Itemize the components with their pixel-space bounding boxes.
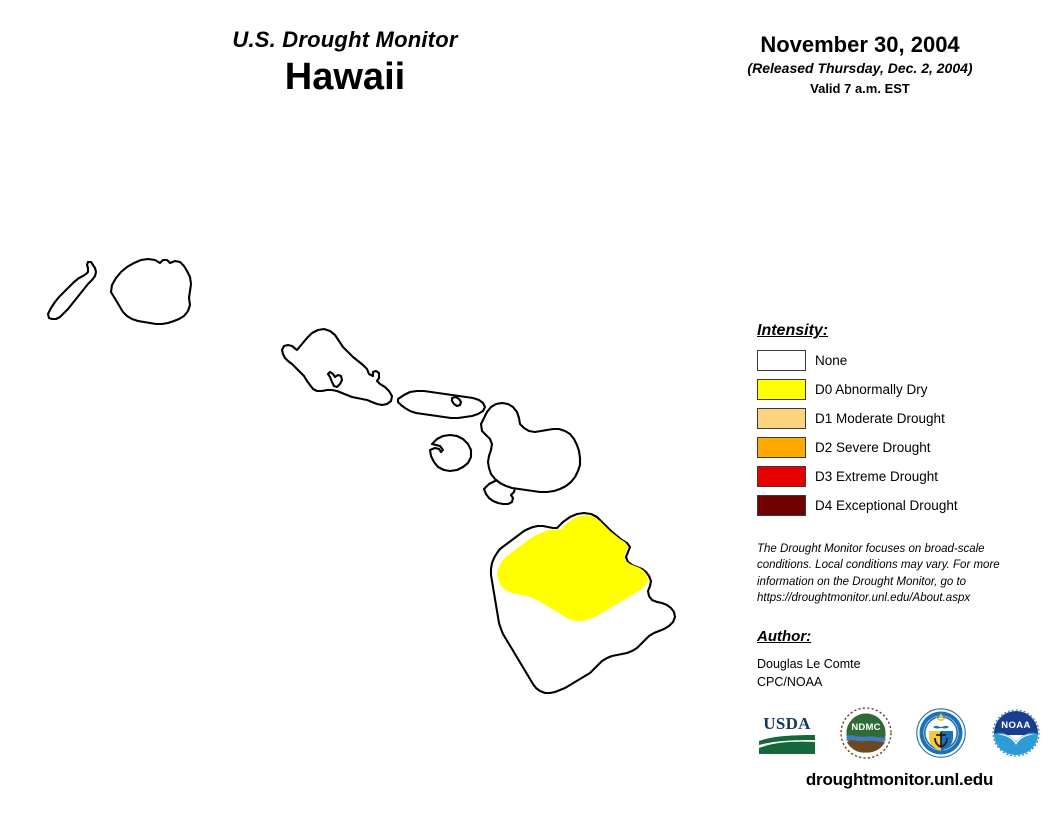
island-kauai <box>111 259 191 324</box>
legend-swatch-d2 <box>757 437 806 458</box>
date-block: November 30, 2004 (Released Thursday, De… <box>690 32 1030 97</box>
legend-label-d3: D3 Extreme Drought <box>815 470 938 484</box>
legend-item-d3: D3 Extreme Drought <box>757 465 1047 488</box>
logo-row: USDA NDMC <box>757 706 1042 764</box>
legend-label-d1: D1 Moderate Drought <box>815 412 945 426</box>
drought-monitor-map-page: U.S. Drought Monitor Hawaii November 30,… <box>0 0 1056 816</box>
valid-time: Valid 7 a.m. EST <box>690 81 1030 97</box>
island-niihau <box>48 262 96 319</box>
legend: Intensity: None D0 Abnormally Dry D1 Mod… <box>757 322 1047 523</box>
author-name: Douglas Le Comte <box>757 655 1037 673</box>
author-title: Author: <box>757 628 811 645</box>
legend-swatch-d0 <box>757 379 806 400</box>
legend-item-d4: D4 Exceptional Drought <box>757 494 1047 517</box>
author-block: Author: Douglas Le Comte CPC/NOAA <box>757 628 1037 691</box>
page-title: U.S. Drought Monitor <box>0 28 690 52</box>
legend-item-d2: D2 Severe Drought <box>757 436 1047 459</box>
commerce-seal-logo <box>915 707 967 764</box>
legend-swatch-d4 <box>757 495 806 516</box>
svg-text:USDA: USDA <box>763 714 811 733</box>
legend-label-d4: D4 Exceptional Drought <box>815 499 958 513</box>
svg-text:NOAA: NOAA <box>1001 720 1031 731</box>
legend-title: Intensity: <box>757 322 828 340</box>
island-maui <box>481 403 580 492</box>
legend-label-none: None <box>815 354 847 368</box>
legend-swatch-d1 <box>757 408 806 429</box>
title-block: U.S. Drought Monitor Hawaii <box>0 28 690 100</box>
hawaii-map <box>0 110 745 816</box>
map-date: November 30, 2004 <box>690 32 1030 57</box>
usda-logo: USDA <box>757 710 817 761</box>
state-name: Hawaii <box>0 56 690 100</box>
island-molokai <box>398 391 485 418</box>
legend-item-none: None <box>757 349 1047 372</box>
island-lanai <box>430 435 471 471</box>
legend-item-d1: D1 Moderate Drought <box>757 407 1047 430</box>
ndmc-logo: NDMC <box>840 707 892 764</box>
disclaimer-text: The Drought Monitor focuses on broad-sca… <box>757 541 1025 606</box>
author-affiliation: CPC/NOAA <box>757 673 1037 691</box>
legend-swatch-none <box>757 350 806 371</box>
noaa-logo: NOAA <box>990 707 1042 764</box>
release-date: (Released Thursday, Dec. 2, 2004) <box>690 60 1030 77</box>
legend-label-d2: D2 Severe Drought <box>815 441 931 455</box>
site-url: droughtmonitor.unl.edu <box>757 770 1042 790</box>
legend-item-d0: D0 Abnormally Dry <box>757 378 1047 401</box>
legend-label-d0: D0 Abnormally Dry <box>815 383 928 397</box>
svg-text:NDMC: NDMC <box>851 722 880 733</box>
island-oahu <box>282 329 392 405</box>
molokai-inlet <box>452 397 461 406</box>
legend-swatch-d3 <box>757 466 806 487</box>
